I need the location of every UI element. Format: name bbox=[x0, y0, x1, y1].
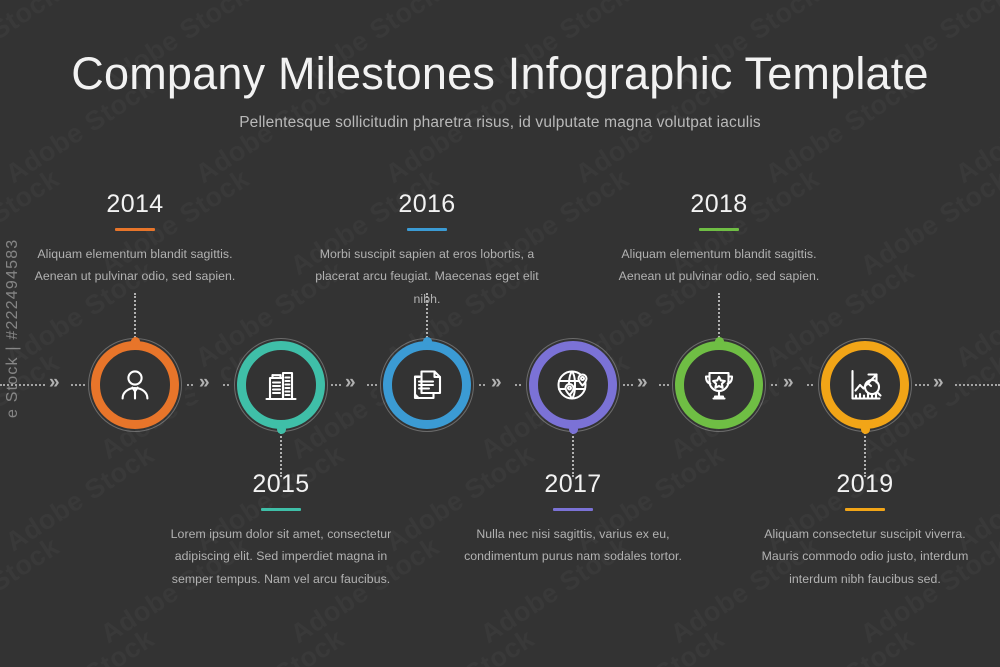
businessperson-icon bbox=[91, 341, 179, 429]
header: Company Milestones Infographic Template … bbox=[0, 0, 1000, 132]
timeline-arrow-0: » bbox=[49, 373, 58, 392]
milestone-description: Morbi suscipit sapien at eros lobortis, … bbox=[312, 243, 542, 310]
timeline-arrow-1: » bbox=[199, 373, 208, 392]
milestone-node-2014[interactable] bbox=[91, 341, 179, 429]
milestone-text-2014: 2014Aliquam elementum blandit sagittis. … bbox=[20, 192, 250, 288]
milestone-node-2018[interactable] bbox=[675, 341, 763, 429]
growth-chart-search-icon bbox=[821, 341, 909, 429]
milestone-connector-dot bbox=[861, 425, 870, 434]
timeline-arrow-6: » bbox=[933, 373, 942, 392]
milestone-rule bbox=[115, 228, 155, 231]
trophy-star-icon bbox=[675, 341, 763, 429]
milestone-year: 2015 bbox=[166, 472, 396, 497]
page-title: Company Milestones Infographic Template bbox=[0, 0, 1000, 98]
milestone-rule bbox=[407, 228, 447, 231]
milestone-text-2018: 2018Aliquam elementum blandit sagittis. … bbox=[604, 192, 834, 288]
milestone-description: Nulla nec nisi sagittis, varius ex eu, c… bbox=[458, 523, 688, 568]
milestone-year: 2014 bbox=[20, 192, 250, 217]
infographic-canvas: Adobe StockAdobe StockAdobe StockAdobe S… bbox=[0, 0, 1000, 667]
milestone-year: 2019 bbox=[750, 472, 980, 497]
milestone-rule bbox=[845, 508, 885, 511]
milestone-node-2016[interactable] bbox=[383, 341, 471, 429]
milestone-rule bbox=[261, 508, 301, 511]
timeline-arrow-3: » bbox=[491, 373, 500, 392]
milestone-text-2015: 2015Lorem ipsum dolor sit amet, consecte… bbox=[166, 472, 396, 590]
milestone-text-2017: 2017Nulla nec nisi sagittis, varius ex e… bbox=[458, 472, 688, 568]
milestone-text-2019: 2019Aliquam consectetur suscipit viverra… bbox=[750, 472, 980, 590]
milestone-node-2017[interactable] bbox=[529, 341, 617, 429]
office-buildings-icon bbox=[237, 341, 325, 429]
milestone-node-2019[interactable] bbox=[821, 341, 909, 429]
milestone-description: Aliquam elementum blandit sagittis. Aene… bbox=[20, 243, 250, 288]
milestone-connector-dot bbox=[569, 425, 578, 434]
milestone-description: Lorem ipsum dolor sit amet, consectetur … bbox=[166, 523, 396, 590]
milestone-year: 2017 bbox=[458, 472, 688, 497]
milestone-year: 2016 bbox=[312, 192, 542, 217]
milestone-connector-dot bbox=[131, 337, 140, 346]
milestone-node-2015[interactable] bbox=[237, 341, 325, 429]
milestone-rule bbox=[699, 228, 739, 231]
milestone-rule bbox=[553, 508, 593, 511]
milestone-connector-dot bbox=[715, 337, 724, 346]
milestone-connector-dot bbox=[423, 337, 432, 346]
globe-location-pins-icon bbox=[529, 341, 617, 429]
timeline-arrow-4: » bbox=[637, 373, 646, 392]
timeline-arrow-2: » bbox=[345, 373, 354, 392]
page-subtitle: Pellentesque sollicitudin pharetra risus… bbox=[0, 98, 1000, 132]
milestone-year: 2018 bbox=[604, 192, 834, 217]
stock-id-label: e Stock | #222494583 bbox=[4, 239, 22, 418]
milestone-text-2016: 2016Morbi suscipit sapien at eros lobort… bbox=[312, 192, 542, 310]
milestone-description: Aliquam consectetur suscipit viverra. Ma… bbox=[750, 523, 980, 590]
documents-icon bbox=[383, 341, 471, 429]
milestone-description: Aliquam elementum blandit sagittis. Aene… bbox=[604, 243, 834, 288]
milestone-connector-dot bbox=[277, 425, 286, 434]
timeline-arrow-5: » bbox=[783, 373, 792, 392]
